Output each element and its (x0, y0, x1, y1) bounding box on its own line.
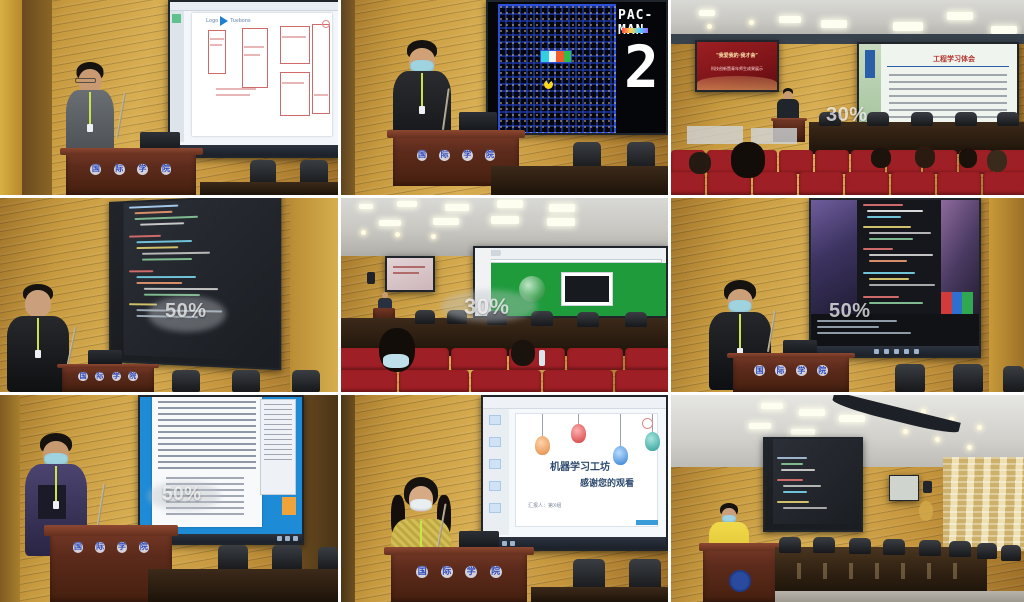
code-line (129, 235, 161, 238)
taskbar-icon[interactable] (277, 536, 282, 541)
podium-logo-char: 国 (416, 566, 428, 578)
chair (977, 543, 997, 559)
taskbar-icon[interactable] (285, 536, 290, 541)
downlight (903, 429, 908, 434)
code-line (863, 272, 915, 274)
secondary-screen (889, 475, 919, 501)
slide-thumb[interactable] (489, 503, 501, 513)
lanyard (421, 73, 423, 109)
editor-gutter (765, 439, 773, 530)
podium-top (60, 148, 203, 155)
audience-head (871, 148, 891, 168)
flow-label (282, 36, 306, 38)
led-wall (473, 246, 668, 318)
chair (895, 364, 925, 392)
code-line (136, 309, 222, 312)
lanyard (89, 92, 91, 126)
doc-text-block (158, 401, 256, 471)
bulb-cord (542, 414, 543, 436)
code-line (869, 238, 913, 240)
projection-screen (138, 395, 304, 545)
photo-cell-6[interactable]: 国 际 学 院 50% (671, 198, 1024, 392)
glasses-icon (75, 78, 96, 83)
chair (1001, 545, 1021, 561)
audience-head (731, 142, 765, 178)
photo-cell-1[interactable]: Logo Tuebons (0, 0, 338, 195)
ceiling-light (497, 200, 523, 208)
arrow-icon (220, 16, 228, 26)
podium: 国 际 学 院 (391, 547, 527, 602)
chair (867, 112, 889, 126)
flow-label (314, 94, 328, 96)
console-pane (811, 314, 979, 346)
slide-title: 机器学习工坊 (550, 458, 610, 473)
wall-panel (687, 126, 743, 144)
chair (949, 541, 971, 557)
flow-label (216, 94, 250, 96)
slide-pacman: PAC-MAN 2 (488, 2, 666, 133)
chair (531, 311, 553, 326)
code-line (144, 288, 218, 290)
downlight (977, 425, 982, 430)
seat (891, 172, 935, 195)
podium-logo-char: 际 (439, 150, 450, 161)
chair (487, 311, 507, 325)
level-number: 2 (624, 38, 659, 96)
chair (318, 547, 338, 571)
doc-text-block (166, 477, 244, 517)
university-emblem (729, 570, 751, 592)
ceiling-light (799, 409, 825, 416)
side-panel (260, 399, 296, 495)
annotation-circle (322, 20, 330, 28)
photo-cell-8[interactable]: 机器学习工坊 感谢您的观看 汇报人：第X组 国 (341, 395, 668, 602)
slide-code-editor (111, 198, 279, 368)
slide-logo-label: Logo (206, 18, 218, 24)
slide-body-text (889, 74, 1007, 128)
code-line (869, 260, 907, 262)
flow-label (216, 88, 256, 90)
id-badge (53, 501, 59, 509)
code-line (869, 278, 909, 280)
code-line (129, 270, 153, 272)
seat (937, 172, 981, 195)
swatch-red (941, 292, 952, 314)
photo-cell-4[interactable]: 国 际 学 院 50% (0, 198, 338, 392)
slide-canvas: 机器学习工坊 感谢您的观看 汇报人：第X组 (515, 413, 658, 527)
ceiling-light (445, 204, 469, 211)
seat (983, 172, 1024, 195)
laptop (459, 112, 497, 132)
ceiling-light (791, 429, 815, 435)
seat (341, 370, 397, 392)
chair (218, 545, 248, 571)
app-ribbon (170, 2, 338, 11)
podium-logo-char: 国 (90, 164, 101, 175)
color-swatches (941, 292, 973, 314)
code-line (783, 485, 821, 487)
ceiling-light (991, 26, 1017, 34)
nav-pane (170, 11, 184, 142)
podium-logo-char: 际 (95, 542, 106, 553)
secondary-screen (385, 256, 435, 292)
ceiling-light (839, 415, 865, 422)
ceiling-light (547, 218, 575, 226)
speaker-box (923, 481, 932, 493)
flow-node (208, 30, 226, 74)
podium-logo-char: 学 (796, 365, 807, 376)
ghost-green (564, 51, 572, 62)
wall-pillar (290, 198, 338, 392)
code-line (781, 463, 803, 465)
podium-logo-char: 学 (462, 150, 473, 161)
chair (232, 370, 260, 392)
chair (955, 112, 977, 126)
code-line (140, 222, 184, 225)
pacman-sprite (544, 80, 553, 89)
swatch-blue (952, 292, 963, 314)
podium-logo-char: 际 (95, 372, 104, 381)
sidebar-accent (865, 50, 875, 78)
photo-cell-2[interactable]: PAC-MAN 2 国 际 学 院 (341, 0, 668, 195)
slide-faded (387, 258, 433, 290)
maze-dots (498, 4, 616, 134)
audience-head (959, 148, 977, 168)
slide-code-editor-2 (811, 200, 979, 356)
photo-cell-7[interactable]: 国 际 学 院 50% (0, 395, 338, 602)
code-line (869, 302, 923, 304)
slide-logo-sub: Tuebons (230, 18, 250, 24)
seat (625, 348, 668, 370)
downlight (395, 232, 400, 237)
audience-row (341, 370, 668, 392)
taskbar-icon[interactable] (293, 536, 298, 541)
podium-logo-char: 学 (137, 164, 148, 175)
face-mask (383, 354, 409, 368)
code-line (777, 479, 803, 481)
slide-footer: 汇报人：第X组 (528, 502, 561, 509)
floor (775, 591, 1024, 602)
ceiling-light (491, 216, 519, 224)
downlight (935, 437, 940, 442)
flow-node (280, 26, 310, 64)
podium-top (44, 525, 178, 536)
chair (883, 539, 905, 555)
projection-screen (109, 198, 281, 370)
lanyard (739, 314, 741, 350)
photo-collage: Logo Tuebons (0, 0, 1024, 602)
ceiling-light (359, 204, 373, 209)
flow-label (282, 82, 304, 84)
chair (813, 537, 835, 553)
slide-thumb[interactable] (489, 415, 501, 425)
wall-edge (341, 0, 355, 195)
console-line (817, 320, 897, 322)
flow-node (242, 28, 268, 88)
wall-pillar (0, 0, 22, 195)
app-ribbon (483, 397, 666, 409)
id-badge (35, 350, 41, 358)
podium-logo-char: 际 (114, 164, 125, 175)
podium: 国 际 学 院 (62, 364, 154, 392)
code-line (783, 491, 807, 493)
taskbar-icon[interactable] (884, 349, 889, 354)
slide-green-site (475, 248, 666, 316)
seat (543, 370, 613, 392)
slide-heading: 工程学习体会 (933, 54, 975, 64)
code-line (136, 282, 182, 284)
code-line (777, 501, 809, 503)
ceiling-light (549, 204, 575, 212)
slide-thumb[interactable] (489, 459, 501, 469)
code-line (783, 507, 827, 509)
slide-logo: Logo Tuebons (206, 16, 251, 26)
code-line (142, 252, 210, 255)
secondary-screen: "我爱我的·我才会" 科技创新暨青年师生成果展示 (695, 40, 779, 92)
seat (615, 370, 668, 392)
slide-line (393, 272, 419, 274)
photo-cell-9[interactable] (671, 395, 1024, 602)
podium-logo: 国 际 学 院 (410, 562, 508, 581)
taskbar-icon[interactable] (904, 349, 909, 354)
wall-edge (341, 395, 355, 602)
code-line (869, 284, 935, 286)
seat (799, 172, 843, 195)
ceiling-light (379, 220, 401, 226)
bulb-cord (578, 414, 579, 424)
ceiling-light (947, 12, 973, 20)
ceiling-light (821, 20, 847, 28)
projection-screen (809, 198, 981, 358)
heading-rule (887, 66, 1009, 67)
code-line (869, 232, 931, 234)
code-line (136, 246, 178, 249)
ceiling-light (749, 423, 771, 429)
ghost-orange (556, 51, 564, 62)
highlight-box (282, 497, 296, 515)
chair (849, 538, 871, 554)
id-badge (87, 124, 93, 132)
chair (1003, 366, 1024, 392)
photo-cell-3[interactable]: "我爱我的·我才会" 科技创新暨青年师生成果展示 工程学习体会 (671, 0, 1024, 195)
action-button[interactable] (636, 520, 658, 525)
window-blinds-slats (943, 457, 1024, 551)
code-line (777, 457, 807, 459)
podium-logo-char: 院 (817, 365, 828, 376)
ceiling-light (433, 218, 459, 225)
front-desk (491, 166, 668, 195)
seat (451, 348, 507, 370)
code-line (136, 240, 192, 243)
podium-logo-char: 院 (485, 150, 496, 161)
code-line (136, 276, 196, 278)
slide-title-red: "我爱我的·我才会" 科技创新暨青年师生成果展示 (697, 42, 777, 90)
downlight (431, 234, 436, 239)
document-window (152, 397, 262, 527)
podium-logo-char: 院 (128, 372, 137, 381)
code-line (869, 254, 933, 256)
taskbar-icon[interactable] (502, 541, 507, 546)
seat (753, 172, 797, 195)
slide-subtitle: 感谢您的观看 (580, 476, 634, 489)
ghost-cyan (541, 51, 549, 62)
podium-top (57, 364, 158, 368)
ceiling-light (761, 403, 783, 409)
bulb-teal (645, 432, 660, 451)
console-line (817, 326, 879, 328)
podium-logo-char: 国 (78, 372, 87, 381)
chair (577, 312, 599, 327)
code-line (863, 296, 899, 298)
chair (292, 370, 320, 392)
podium-logo: 国 际 学 院 (67, 539, 155, 556)
chair (919, 540, 941, 556)
podium-logo-char: 学 (117, 542, 128, 553)
chair (415, 310, 435, 324)
chair (625, 312, 647, 327)
chair (172, 370, 200, 392)
lanyard (55, 466, 57, 502)
podium-top (384, 547, 534, 555)
podium-logo: 国 际 学 院 (749, 364, 833, 377)
seat (471, 370, 541, 392)
editor-status-bar (765, 524, 861, 530)
projection-screen (763, 437, 863, 532)
chair (272, 545, 302, 571)
code-line (142, 258, 192, 261)
flow-node (280, 72, 310, 116)
audience-row (671, 172, 1024, 195)
decor-wave (697, 76, 777, 90)
podium-logo-char: 际 (775, 365, 786, 376)
chair (447, 310, 467, 324)
ceiling-light (699, 10, 715, 16)
taskbar-icon[interactable] (874, 349, 879, 354)
head (25, 290, 51, 317)
podium-logo: 国 际 学 院 (75, 372, 141, 382)
seat (567, 348, 623, 370)
podium-logo-char: 国 (754, 365, 765, 376)
site-logo (519, 276, 545, 302)
desk-carving (787, 563, 977, 579)
projection-screen: PAC-MAN 2 (486, 0, 668, 135)
code-line (144, 294, 200, 296)
code-line (781, 469, 815, 471)
address-bar[interactable] (478, 259, 662, 263)
code-line (863, 248, 893, 250)
chair (997, 112, 1019, 126)
podium-logo-char: 院 (139, 542, 150, 553)
taskbar-icon[interactable] (914, 349, 919, 354)
content-card (561, 272, 613, 306)
chair (819, 112, 841, 126)
wall-pillar-shadow (22, 0, 52, 195)
decor-circle (642, 418, 653, 429)
editor-gutter (111, 203, 124, 361)
taskbar-icon[interactable] (894, 349, 899, 354)
water-bottle (539, 350, 545, 366)
site-sidebar (475, 248, 491, 316)
front-desk (531, 587, 668, 602)
nav-thumb (172, 14, 181, 23)
bulb-red (571, 424, 586, 443)
terminal-pane (565, 276, 609, 302)
speaker-box (367, 272, 375, 284)
downlight (749, 20, 754, 25)
bulb-cord (620, 414, 621, 446)
code-line (867, 216, 901, 218)
slide-line (393, 266, 425, 268)
seat (815, 150, 849, 174)
front-desk (148, 569, 338, 602)
podium-logo-char: 国 (417, 150, 428, 161)
face-mask (410, 499, 432, 511)
downlight (707, 24, 712, 29)
presenter (6, 284, 70, 392)
swatch-green (962, 292, 973, 314)
podium-top (771, 118, 806, 121)
audience-head (987, 150, 1007, 172)
flow-node (312, 24, 330, 114)
code-line (863, 204, 903, 206)
flow-label (210, 44, 222, 46)
ghost-white (549, 51, 557, 62)
ceiling-light (779, 16, 801, 23)
wall-edge (0, 395, 20, 602)
downlight (361, 230, 366, 235)
console-line (817, 332, 911, 334)
podium: 国 际 学 院 (66, 148, 196, 195)
ceiling-light (893, 22, 923, 31)
podium-logo-char: 国 (73, 542, 84, 553)
flow-label (210, 38, 224, 40)
wall-emblem (919, 501, 933, 521)
podium-top (387, 130, 526, 138)
podium-top (699, 543, 780, 551)
slide-flowchart: Logo Tuebons (170, 2, 338, 156)
seat (779, 150, 813, 174)
code-line (135, 211, 173, 214)
slide-subtitle-text: 科技创新暨青年师生成果展示 (697, 66, 777, 72)
slide-ml-workshop: 机器学习工坊 感谢您的观看 汇报人：第X组 (483, 397, 666, 549)
front-desk (200, 182, 338, 195)
slide-code-editor-3 (765, 439, 861, 530)
slide-thumbnails-pane (483, 409, 509, 535)
projection-screen: 机器学习工坊 感谢您的观看 汇报人：第X组 (481, 395, 668, 551)
taskbar-icon[interactable] (510, 541, 515, 546)
wall-panel (751, 128, 797, 144)
chair (953, 364, 983, 392)
flow-label (244, 54, 260, 56)
wall-pillar (989, 198, 1024, 392)
code-line (135, 216, 198, 220)
chair (779, 537, 801, 553)
panel-rows (264, 404, 292, 464)
code-line (863, 226, 911, 228)
slide-thumb[interactable] (489, 437, 501, 447)
projection-screen: Logo Tuebons (168, 0, 338, 158)
id-badge (419, 106, 425, 114)
chair (911, 112, 933, 126)
code-line (867, 210, 923, 212)
audience-head (511, 340, 535, 366)
seat (671, 172, 705, 195)
slide-thumb[interactable] (489, 481, 501, 491)
podium-top (727, 353, 855, 358)
code-line (136, 315, 198, 318)
photo-cell-5[interactable]: 30% (341, 198, 668, 392)
ceiling-light (397, 201, 417, 207)
